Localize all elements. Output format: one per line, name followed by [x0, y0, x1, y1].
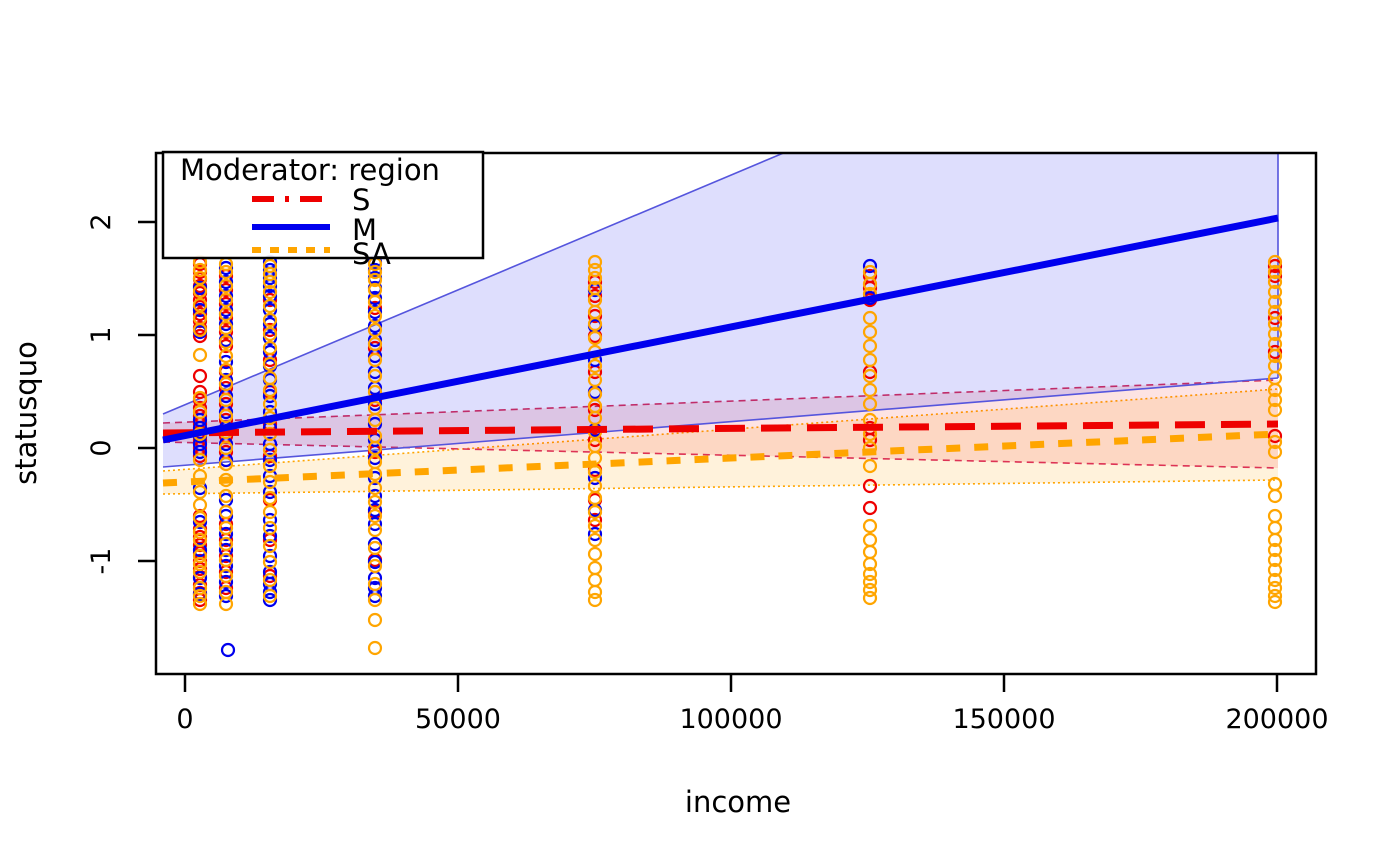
x-tick-label: 50000: [415, 704, 501, 735]
y-axis-title: statusquo: [9, 341, 43, 485]
x-tick-label: 200000: [1225, 704, 1328, 735]
y-tick-label: 1: [86, 326, 117, 343]
x-tick-label: 0: [176, 704, 193, 735]
y-tick-label: -1: [86, 548, 117, 575]
regression-plot: 0 50000 100000 150000 200000 2 1 0 -1 in…: [0, 0, 1400, 866]
y-tick-label: 2: [86, 213, 117, 230]
legend: Moderator: region S M SA: [163, 152, 483, 271]
x-tick-label: 100000: [679, 704, 782, 735]
x-tick-label: 150000: [952, 704, 1055, 735]
legend-label-s: S: [352, 183, 370, 217]
x-axis-title: income: [685, 785, 791, 819]
legend-label-sa: SA: [352, 237, 391, 271]
legend-title: Moderator: region: [180, 153, 440, 187]
plot-canvas: 0 50000 100000 150000 200000 2 1 0 -1 in…: [0, 0, 1400, 866]
y-tick-label: 0: [86, 439, 117, 456]
